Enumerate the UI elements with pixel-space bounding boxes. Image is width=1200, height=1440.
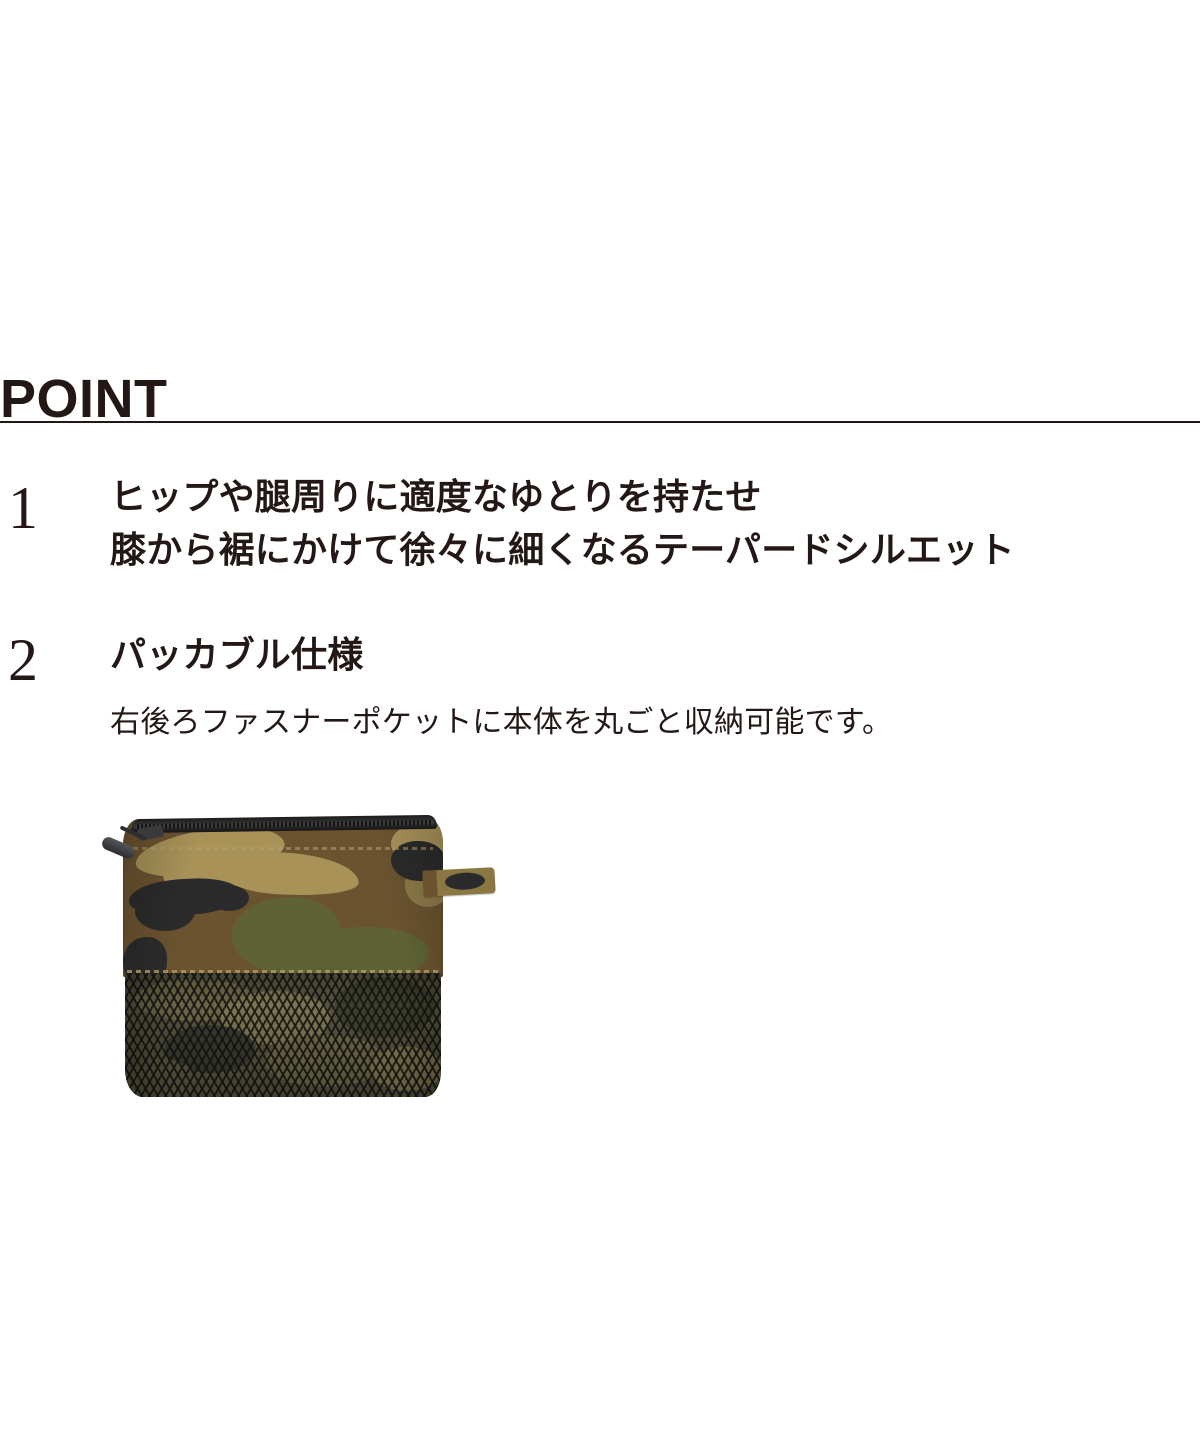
camo-fabric-panel [123,819,443,977]
point-body: パッカブル仕様 右後ろファスナーポケットに本体を丸ごと収納可能です。 [110,628,1180,745]
point-section: POINT 1 ヒップや腿周りに適度なゆとりを持たせ 膝から裾にかけて徐々に細く… [0,0,1200,1440]
point-heading-line-2: 膝から裾にかけて徐々に細くなるテーパードシルエット [110,523,1180,576]
point-heading: パッカブル仕様 [110,628,1180,681]
list-item: 1 ヒップや腿周りに適度なゆとりを持たせ 膝から裾にかけて徐々に細くなるテーパー… [0,470,1200,610]
mesh-shading [125,973,441,1097]
panel-seam [127,970,439,973]
point-description: 右後ろファスナーポケットに本体を丸ごと収納可能です。 [110,701,1180,745]
page-title: POINT [0,371,168,427]
title-divider [0,421,1200,423]
point-list: 1 ヒップや腿周りに適度なゆとりを持たせ 膝から裾にかけて徐々に細くなるテーパー… [0,470,1200,788]
packable-pouch-illustration [123,805,443,1097]
product-photo [85,780,505,1110]
mesh-panel [125,973,441,1097]
zipper-teeth [135,820,433,829]
loop-tab [422,867,495,897]
point-number: 1 [8,476,78,540]
point-number: 2 [8,628,78,692]
point-heading-line-1: ヒップや腿周りに適度なゆとりを持たせ [110,470,1180,523]
list-item: 2 パッカブル仕様 右後ろファスナーポケットに本体を丸ごと収納可能です。 [0,628,1200,788]
point-body: ヒップや腿周りに適度なゆとりを持たせ 膝から裾にかけて徐々に細くなるテーパードシ… [110,470,1180,576]
